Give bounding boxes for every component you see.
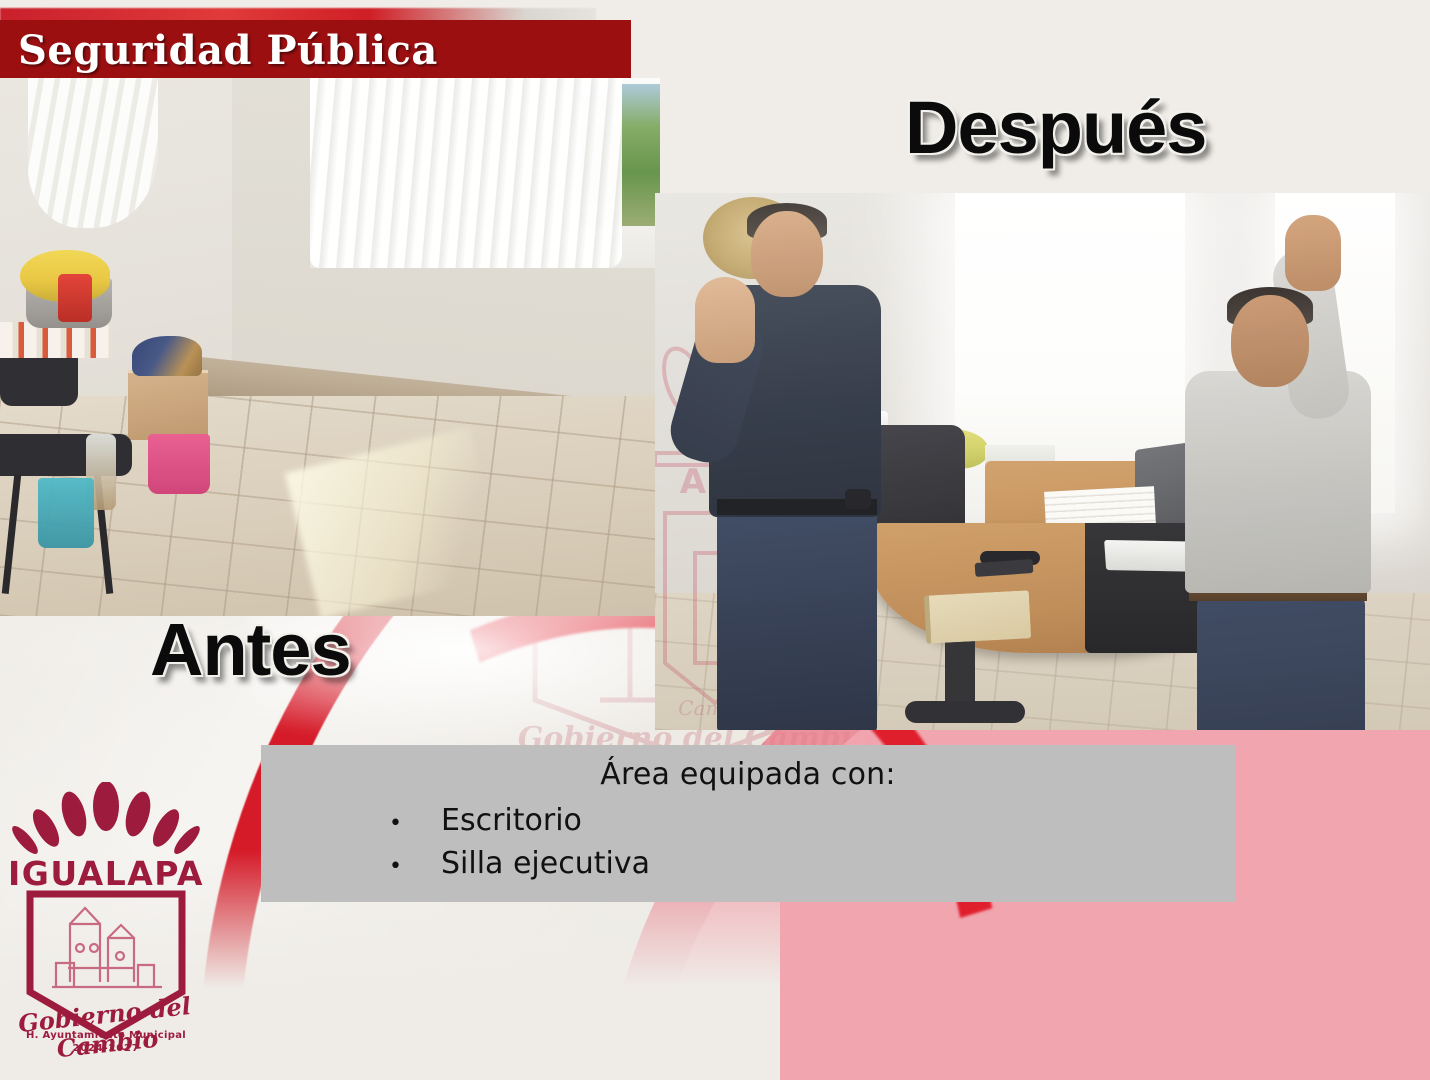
list-item: • Escritorio [389,800,1235,843]
after-photo-tint [655,193,1430,730]
before-photo-tint [0,78,660,616]
before-photo [0,78,660,616]
list-item: • Silla ejecutiva [389,843,1235,886]
bullet-icon: • [389,851,441,882]
before-label: Antes [150,607,351,692]
equipment-list: • Escritorio • Silla ejecutiva [261,800,1235,885]
after-photo: APA Cambio [655,193,1430,730]
caption-heading: Área equipada con: [261,757,1235,792]
slide-canvas: GUALAPA Gobierno del Cambio Seguridad Pú… [0,0,1430,1080]
igualapa-logo: IGUALAPA Gobierno del Cambio H. Ayuntami… [8,782,204,1064]
title-banner: Seguridad Pública [0,20,631,80]
page-title: Seguridad Pública [0,27,438,74]
bullet-icon: • [389,808,441,839]
logo-name: IGUALAPA [8,854,204,893]
list-item-label: Escritorio [441,800,582,843]
list-item-label: Silla ejecutiva [441,843,650,886]
after-label: Después [905,85,1206,170]
equipment-caption-box: Área equipada con: • Escritorio • Silla … [261,745,1235,902]
logo-subtitle: H. Ayuntamiento Municipal [8,1030,204,1041]
logo-period: 2024-2027 [8,1043,204,1054]
